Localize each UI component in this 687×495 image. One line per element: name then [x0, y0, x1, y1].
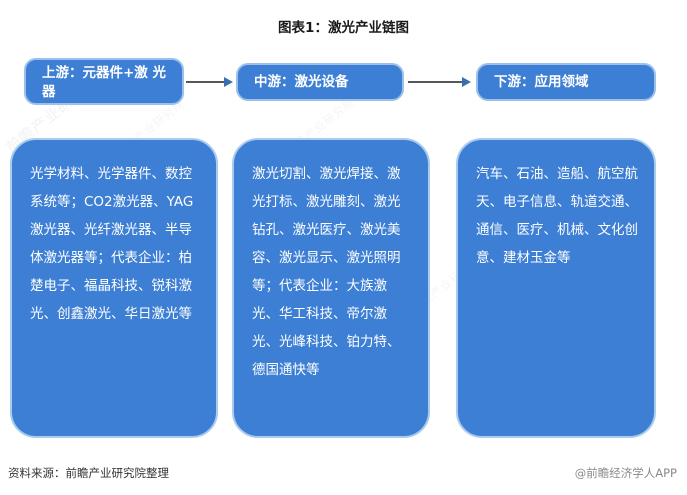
detail-panel-upstream: 光学材料、光学器件、数控系统等；CO2激光器、YAG激光器、光纤激光器、半导体激…	[10, 138, 218, 438]
detail-text-downstream: 汽车、石油、造船、航空航天、电子信息、轨道交通、通信、医疗、机械、文化创意、建材…	[476, 160, 638, 272]
detail-text-upstream: 光学材料、光学器件、数控系统等；CO2激光器、YAG激光器、光纤激光器、半导体激…	[30, 160, 200, 328]
source-note: 资料来源：前瞻产业研究院整理	[8, 465, 169, 481]
arrow-right-icon	[408, 76, 474, 88]
stage-box-upstream: 上游：元器件+激 光器	[24, 58, 184, 105]
stage-label-midstream: 中游：激光设备	[254, 73, 349, 92]
stage-box-midstream: 中游：激光设备	[236, 63, 404, 101]
arrow-right-icon	[186, 76, 234, 88]
arrow-head	[224, 77, 233, 87]
credit-note: @前瞻经济学人APP	[575, 465, 677, 481]
arrow-shaft	[408, 81, 464, 83]
stage-label-downstream: 下游：应用领域	[494, 73, 589, 92]
detail-text-midstream: 激光切割、激光焊接、激光打标、激光雕刻、激光钻孔、激光医疗、激光美容、激光显示、…	[252, 160, 412, 384]
stage-box-downstream: 下游：应用领域	[476, 63, 656, 101]
stage-label-upstream: 上游：元器件+激 光器	[42, 64, 170, 102]
arrow-shaft	[186, 81, 226, 83]
detail-panel-downstream: 汽车、石油、造船、航空航天、电子信息、轨道交通、通信、医疗、机械、文化创意、建材…	[456, 138, 656, 438]
page-title: 图表1：激光产业链图	[0, 16, 687, 36]
detail-panel-midstream: 激光切割、激光焊接、激光打标、激光雕刻、激光钻孔、激光医疗、激光美容、激光显示、…	[232, 138, 430, 438]
arrow-head	[462, 77, 471, 87]
